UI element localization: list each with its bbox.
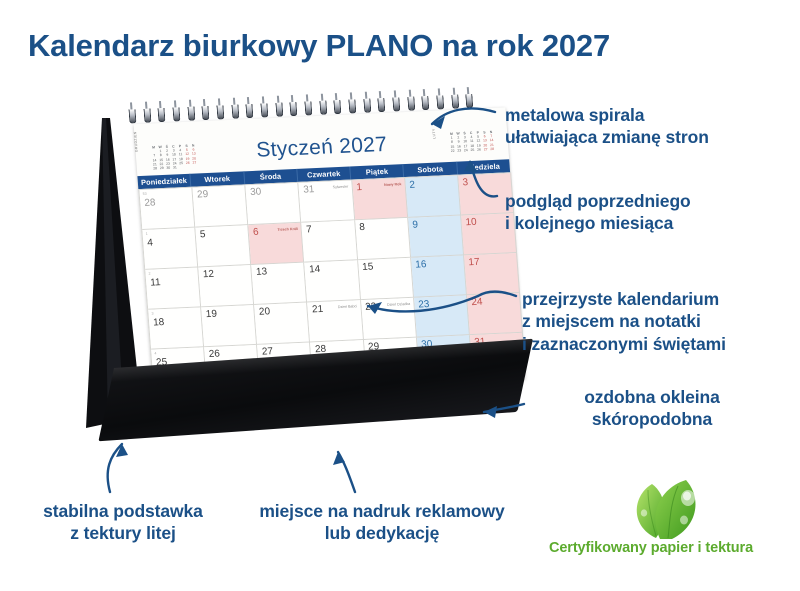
day-event-label: Trzech Króli	[277, 227, 298, 232]
calendar-day-cell: 7	[302, 220, 358, 262]
spiral-ring	[231, 105, 239, 119]
spiral-ring	[392, 97, 400, 111]
week-number: 53	[143, 192, 147, 196]
calendar-day-cell: 19	[201, 305, 257, 347]
annotation-print-area: miejsce na nadruk reklamowy lub dedykacj…	[248, 500, 516, 545]
day-number: 31	[303, 184, 315, 195]
day-number: 30	[250, 187, 262, 198]
calendar-day-cell: 318	[148, 307, 204, 349]
calendar-day-cell: 12	[198, 265, 254, 307]
day-number: 22	[365, 301, 377, 312]
spiral-ring	[128, 109, 136, 123]
spiral-ring	[158, 108, 166, 122]
spiral-ring	[334, 100, 342, 114]
spiral-ring	[187, 107, 195, 121]
week-number: 4	[154, 351, 156, 355]
day-number: 14	[309, 264, 321, 275]
day-number: 17	[468, 257, 480, 268]
calendar-day-cell: 2	[405, 176, 461, 218]
mini-month-next: LUTY MWŚCPSN1234567891011121314151617181…	[441, 130, 501, 158]
calendar-day-cell: 13	[251, 263, 307, 305]
product-promo-image: Kalendarz biurkowy PLANO na rok 2027 Sty…	[0, 0, 800, 591]
mini-month-previous-label: GRUDZIEŃ	[133, 131, 139, 152]
week-number: 2	[148, 272, 150, 276]
day-number: 13	[256, 266, 268, 277]
leaf-icon	[626, 478, 712, 540]
spiral-ring	[422, 96, 430, 110]
calendar-day-cell: 5328	[139, 188, 195, 230]
calendar-day-cell: 17	[464, 253, 520, 295]
calendar-day-cell: 20	[254, 303, 310, 345]
spiral-ring	[290, 102, 298, 116]
day-number: 10	[465, 217, 477, 228]
day-number: 4	[147, 238, 153, 249]
mini-month-next-label: LUTY	[432, 128, 437, 138]
calendar-day-cell: 24	[467, 293, 523, 335]
calendar-day-cell: 14	[142, 228, 198, 270]
day-number: 9	[412, 219, 418, 230]
annotation-preview: podgląd poprzedniego i kolejnego miesiąc…	[505, 190, 691, 235]
day-number: 2	[409, 180, 415, 191]
day-number: 24	[471, 297, 483, 308]
arrow-base	[108, 444, 122, 492]
spiral-ring	[436, 95, 444, 109]
annotation-veneer: ozdobna okleina skóropodobna	[532, 386, 772, 431]
spiral-ring	[202, 106, 210, 120]
annotation-calendarium: przejrzyste kalendarium z miejscem na no…	[522, 288, 726, 355]
calendar-day-cell: 8	[355, 218, 411, 260]
day-event-label: Dzień Babci	[338, 304, 357, 309]
calendar-day-cell: 31Sylwester	[299, 180, 355, 222]
calendar-day-cell: 211	[145, 267, 201, 309]
day-number: 27	[261, 346, 273, 357]
day-number: 7	[306, 224, 312, 235]
day-number: 8	[359, 222, 365, 233]
annotation-base: stabilna podstawka z tektury litej	[8, 500, 238, 545]
arrow-print	[338, 452, 355, 492]
spiral-ring	[216, 105, 224, 119]
day-event-label: Dzień Dziadka	[387, 302, 410, 307]
calendar-day-cell: 15	[358, 258, 414, 300]
mini-month-previous: GRUDZIEŃ MWŚCPSN123456789101112131415161…	[143, 143, 203, 171]
day-number: 5	[200, 229, 206, 240]
page-title: Kalendarz biurkowy PLANO na rok 2027	[28, 28, 768, 64]
day-number: 26	[208, 349, 220, 360]
spiral-ring	[378, 98, 386, 112]
mini-day	[191, 164, 198, 168]
day-event-label: Sylwester	[333, 185, 349, 190]
calendar-day-cell: 14	[305, 260, 361, 302]
day-number: 3	[462, 177, 468, 188]
spiral-ring	[304, 101, 312, 115]
spiral-ring	[466, 94, 474, 108]
calendar-day-cell: 21Dzień Babci	[308, 300, 364, 342]
arrowhead-print	[333, 452, 345, 465]
day-number: 11	[150, 277, 161, 288]
annotation-spiral: metalowa spirala ułatwiająca zmianę stro…	[505, 104, 709, 149]
day-number: 20	[259, 306, 271, 317]
day-number: 18	[153, 317, 165, 328]
calendar-day-cell: 23	[414, 295, 470, 337]
day-number: 28	[144, 197, 156, 208]
day-number: 12	[203, 269, 215, 280]
day-number: 16	[415, 259, 427, 270]
eco-certification-logo: Certyfikowany papier i tektura	[520, 478, 782, 574]
week-number: 3	[151, 312, 153, 316]
calendar-day-cell: 30	[246, 183, 302, 225]
day-number: 23	[418, 299, 430, 310]
day-event-label: Nowy Rok	[384, 182, 402, 187]
spiral-ring	[319, 101, 327, 115]
day-number: 1	[356, 182, 362, 193]
week-number: 1	[145, 232, 147, 236]
spiral-ring	[172, 107, 180, 121]
eco-caption: Certyfikowany papier i tektura	[520, 540, 782, 556]
mini-day	[489, 151, 496, 155]
calendar-day-cell: 5	[195, 225, 251, 267]
spiral-ring	[260, 103, 268, 117]
spiral-ring	[363, 99, 371, 113]
day-number: 29	[197, 189, 209, 200]
spiral-ring	[451, 95, 459, 109]
spiral-ring	[246, 104, 254, 118]
calendar-day-cell: 22Dzień Dziadka	[361, 298, 417, 340]
calendar-day-cell: 1Nowy Rok	[352, 178, 408, 220]
day-number: 15	[362, 262, 374, 273]
calendar-day-cell: 9	[408, 216, 464, 258]
day-number: 19	[205, 309, 217, 320]
spiral-ring	[407, 97, 415, 111]
spiral-ring	[143, 109, 151, 123]
spiral-ring	[348, 99, 356, 113]
calendar-day-cell: 6Trzech Króli	[249, 223, 305, 265]
spiral-ring	[275, 103, 283, 117]
day-number: 6	[253, 227, 259, 238]
calendar-day-cell: 16	[411, 255, 467, 297]
day-number: 21	[312, 304, 324, 315]
calendar-day-cell: 29	[193, 185, 249, 227]
